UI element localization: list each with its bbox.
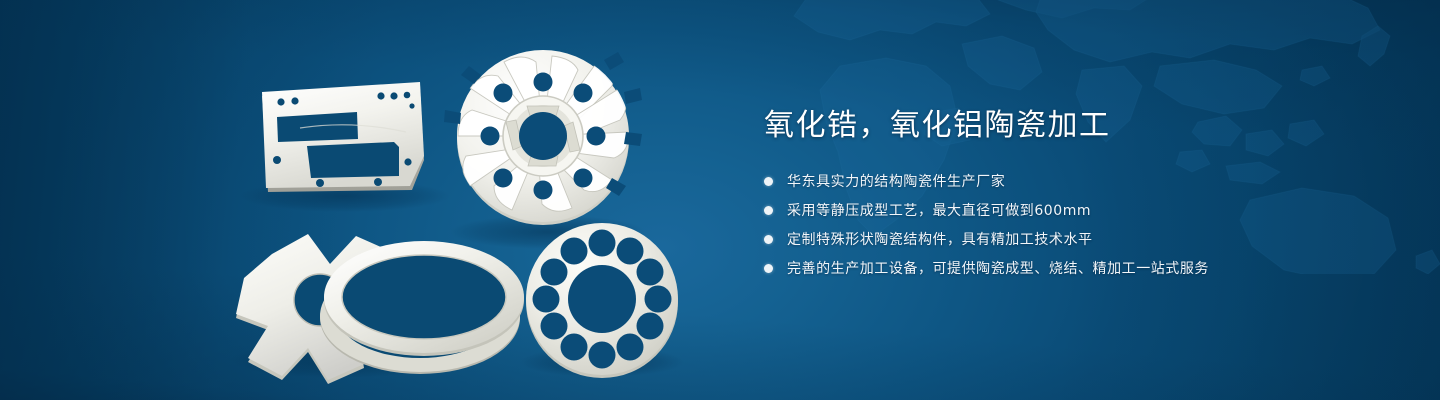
list-item-label: 定制特殊形状陶瓷结构件，具有精加工技术水平 bbox=[787, 229, 1093, 249]
list-item-label: 完善的生产加工设备，可提供陶瓷成型、烧结、精加工一站式服务 bbox=[787, 258, 1209, 278]
page-title: 氧化锆，氧化铝陶瓷加工 bbox=[764, 108, 1384, 143]
list-item: 完善的生产加工设备，可提供陶瓷成型、烧结、精加工一站式服务 bbox=[764, 256, 1384, 280]
ceramic-mounting-plate-shape bbox=[262, 82, 424, 192]
bullet-dot-icon bbox=[764, 235, 773, 244]
bullet-dot-icon bbox=[764, 206, 773, 215]
list-item: 华东具实力的结构陶瓷件生产厂家 bbox=[764, 169, 1384, 193]
ceramic-product-banner: 氧化锆，氧化铝陶瓷加工 华东具实力的结构陶瓷件生产厂家 采用等静压成型工艺，最大… bbox=[0, 0, 1440, 400]
list-item-label: 采用等静压成型工艺，最大直径可做到600mm bbox=[787, 200, 1091, 220]
ceramic-ring-shape bbox=[320, 241, 524, 374]
list-item-label: 华东具实力的结构陶瓷件生产厂家 bbox=[787, 171, 1005, 191]
list-item: 定制特殊形状陶瓷结构件，具有精加工技术水平 bbox=[764, 227, 1384, 251]
list-item: 采用等静压成型工艺，最大直径可做到600mm bbox=[764, 198, 1384, 222]
feature-list: 华东具实力的结构陶瓷件生产厂家 采用等静压成型工艺，最大直径可做到600mm 定… bbox=[764, 169, 1384, 280]
ceramic-vane-impeller-shape bbox=[444, 50, 642, 225]
banner-copy: 氧化锆，氧化铝陶瓷加工 华东具实力的结构陶瓷件生产厂家 采用等静压成型工艺，最大… bbox=[764, 108, 1384, 285]
bullet-dot-icon bbox=[764, 264, 773, 273]
ceramic-products-photo bbox=[0, 0, 720, 400]
ceramic-perforated-disc-shape bbox=[526, 223, 678, 378]
bullet-dot-icon bbox=[764, 177, 773, 186]
